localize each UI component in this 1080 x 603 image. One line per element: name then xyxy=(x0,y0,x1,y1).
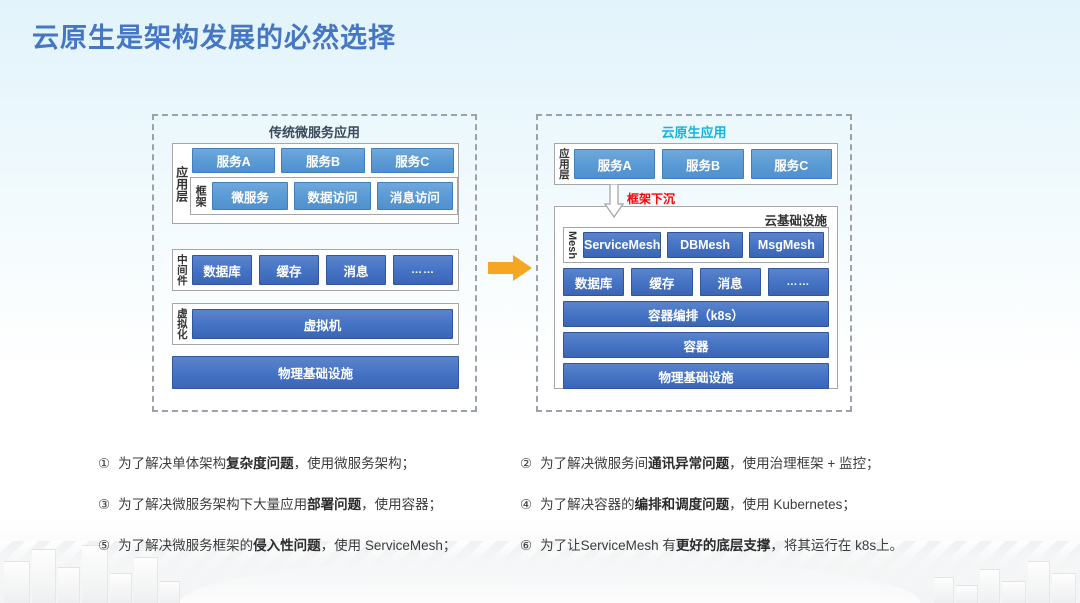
service-box[interactable]: 服务B xyxy=(662,149,743,179)
note-number: ① xyxy=(98,456,110,472)
label-cloud-application-layer: 应用层 xyxy=(555,144,572,184)
middleware-box-more[interactable]: …… xyxy=(768,268,829,296)
physical-infrastructure-box[interactable]: 物理基础设施 xyxy=(563,363,829,389)
note-item: ① 为了解决单体架构复杂度问题，使用微服务架构； xyxy=(98,452,528,472)
panel-title-traditional: 传统微服务应用 xyxy=(154,122,475,141)
mesh-box[interactable]: ServiceMesh xyxy=(583,232,661,258)
note-number: ⑥ xyxy=(520,538,532,554)
label-application-layer: 应用层 xyxy=(173,144,190,223)
note-text: 为了解决容器的编排和调度问题，使用 Kubernetes； xyxy=(540,493,856,513)
framework-box[interactable]: 消息访问 xyxy=(377,182,453,210)
note-item: ⑤ 为了解决微服务框架的侵入性问题，使用 ServiceMesh； xyxy=(98,534,528,554)
mesh-box[interactable]: DBMesh xyxy=(667,232,742,258)
panel-traditional-microservice: 传统微服务应用 应用层 服务A 服务B 服务C 框架 微服务 数据访问 消息访问… xyxy=(152,114,477,412)
note-number: ② xyxy=(520,456,532,472)
note-item: ② 为了解决微服务间通讯异常问题，使用治理框架 + 监控； xyxy=(520,452,990,472)
section-application-layer: 应用层 服务A 服务B 服务C 框架 微服务 数据访问 消息访问 xyxy=(172,143,459,224)
notes-column-right: ② 为了解决微服务间通讯异常问题，使用治理框架 + 监控； ④ 为了解决容器的编… xyxy=(520,452,990,575)
service-box[interactable]: 服务C xyxy=(751,149,832,179)
note-text: 为了解决微服务框架的侵入性问题，使用 ServiceMesh； xyxy=(118,534,456,554)
framework-box[interactable]: 微服务 xyxy=(212,182,288,210)
note-item: ⑥ 为了让ServiceMesh 有更好的底层支撑，将其运行在 k8s上。 xyxy=(520,534,990,554)
middleware-box-more[interactable]: …… xyxy=(393,255,453,285)
note-item: ④ 为了解决容器的编排和调度问题，使用 Kubernetes； xyxy=(520,493,990,513)
panel-cloud-native: 云原生应用 应用层 服务A 服务B 服务C 云基础设施 Mesh Service… xyxy=(536,114,852,412)
middleware-box[interactable]: 消息 xyxy=(326,255,386,285)
framework-box[interactable]: 数据访问 xyxy=(294,182,370,210)
notes-column-left: ① 为了解决单体架构复杂度问题，使用微服务架构； ③ 为了解决微服务架构下大量应… xyxy=(98,452,528,575)
note-item: ③ 为了解决微服务架构下大量应用部署问题，使用容器； xyxy=(98,493,528,513)
service-box[interactable]: 服务A xyxy=(192,148,275,173)
page-title: 云原生是架构发展的必然选择 xyxy=(32,16,396,55)
label-framework: 框架 xyxy=(191,178,208,214)
service-box[interactable]: 服务B xyxy=(281,148,364,173)
middleware-box[interactable]: 消息 xyxy=(700,268,761,296)
section-cloud-application-layer: 应用层 服务A 服务B 服务C xyxy=(554,143,838,185)
section-middleware: 中间件 数据库 缓存 消息 …… xyxy=(172,249,459,291)
section-mesh: Mesh ServiceMesh DBMesh MsgMesh xyxy=(563,227,829,263)
note-number: ③ xyxy=(98,497,110,513)
panel-title-cloud-native: 云原生应用 xyxy=(538,122,850,141)
label-mesh: Mesh xyxy=(564,228,579,262)
note-text: 为了让ServiceMesh 有更好的底层支撑，将其运行在 k8s上。 xyxy=(540,534,903,554)
section-framework: 框架 微服务 数据访问 消息访问 xyxy=(190,177,458,215)
note-number: ④ xyxy=(520,497,532,513)
mesh-box[interactable]: MsgMesh xyxy=(749,232,824,258)
note-text: 为了解决微服务间通讯异常问题，使用治理框架 + 监控； xyxy=(540,452,879,472)
physical-infrastructure-box[interactable]: 物理基础设施 xyxy=(172,356,459,389)
note-text: 为了解决单体架构复杂度问题，使用微服务架构； xyxy=(118,452,415,472)
down-arrow-icon xyxy=(604,184,624,218)
section-cloud-infrastructure: 云基础设施 Mesh ServiceMesh DBMesh MsgMesh 数据… xyxy=(554,206,838,389)
service-box[interactable]: 服务A xyxy=(574,149,655,179)
middleware-box[interactable]: 缓存 xyxy=(259,255,319,285)
container-box[interactable]: 容器 xyxy=(563,332,829,358)
middleware-box[interactable]: 数据库 xyxy=(563,268,624,296)
virtual-machine-box[interactable]: 虚拟机 xyxy=(192,309,453,339)
middleware-box[interactable]: 缓存 xyxy=(631,268,692,296)
container-orchestration-box[interactable]: 容器编排（k8s） xyxy=(563,301,829,327)
framework-sinking-label: 框架下沉 xyxy=(627,190,675,207)
right-arrow-icon xyxy=(488,255,532,281)
note-number: ⑤ xyxy=(98,538,110,554)
note-text: 为了解决微服务架构下大量应用部署问题，使用容器； xyxy=(118,493,442,513)
label-virtualization: 虚拟化 xyxy=(173,304,190,344)
section-virtualization: 虚拟化 虚拟机 xyxy=(172,303,459,345)
label-middleware: 中间件 xyxy=(173,250,190,290)
service-box[interactable]: 服务C xyxy=(371,148,454,173)
middleware-box[interactable]: 数据库 xyxy=(192,255,252,285)
